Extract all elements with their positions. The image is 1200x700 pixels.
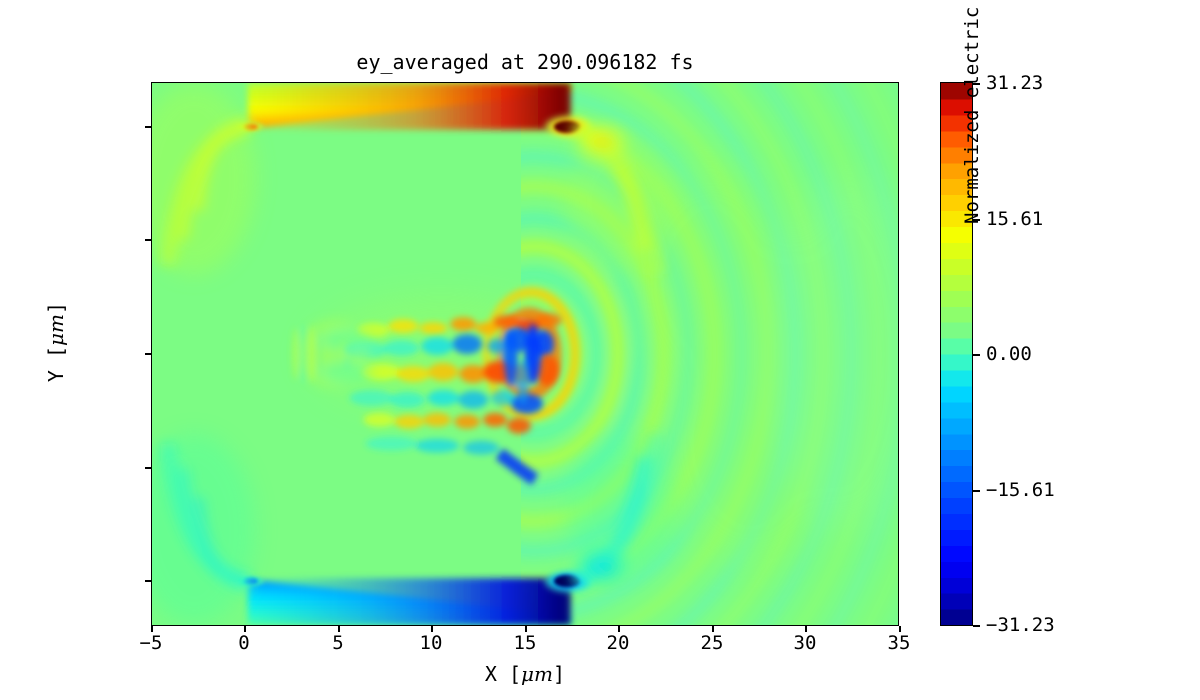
x-axis-label-prefix: X [ bbox=[485, 662, 521, 686]
x-axis-unit: μm bbox=[521, 662, 553, 686]
xtick-label: 20 bbox=[588, 632, 648, 654]
xtick-label: 5 bbox=[308, 632, 368, 654]
xtick-label: 10 bbox=[401, 632, 461, 654]
y-axis-label: Y [μm] bbox=[44, 242, 68, 442]
xtick-label: 0 bbox=[214, 632, 274, 654]
colorbar-tick-mark bbox=[973, 490, 980, 492]
colorbar-tick-label: −15.61 bbox=[986, 479, 1055, 501]
ytick-mark bbox=[145, 353, 151, 355]
xtick-label: 15 bbox=[495, 632, 555, 654]
y-axis-label-suffix: ] bbox=[44, 302, 68, 314]
colorbar-tick-label: 0.00 bbox=[986, 343, 1032, 365]
ytick-mark bbox=[145, 467, 151, 469]
y-axis-label-prefix: Y [ bbox=[44, 346, 68, 382]
colorbar-tick-mark bbox=[973, 354, 980, 356]
xtick-label: 30 bbox=[775, 632, 835, 654]
xtick-label: −5 bbox=[121, 632, 181, 654]
ytick-mark bbox=[145, 126, 151, 128]
colorbar-tick-label: 15.61 bbox=[986, 208, 1043, 230]
xtick-label: 25 bbox=[682, 632, 742, 654]
x-axis-label-suffix: ] bbox=[553, 662, 565, 686]
xtick-label: 35 bbox=[869, 632, 929, 654]
ytick-mark bbox=[145, 580, 151, 582]
field-map bbox=[152, 83, 898, 625]
figure-canvas: ey_averaged at 290.096182 fs bbox=[0, 0, 1200, 700]
plot-title: ey_averaged at 290.096182 fs bbox=[151, 50, 899, 74]
colorbar-tick-mark bbox=[973, 625, 980, 627]
colorbar-tick-label: −31.23 bbox=[986, 614, 1055, 636]
colorbar-label: Normalized electric field bbox=[961, 0, 983, 341]
x-axis-label: X [μm] bbox=[151, 662, 899, 686]
y-axis-unit: μm bbox=[44, 314, 68, 346]
heatmap-plot-area bbox=[151, 82, 899, 626]
colorbar-tick-label: 31.23 bbox=[986, 72, 1043, 94]
ytick-mark bbox=[145, 239, 151, 241]
